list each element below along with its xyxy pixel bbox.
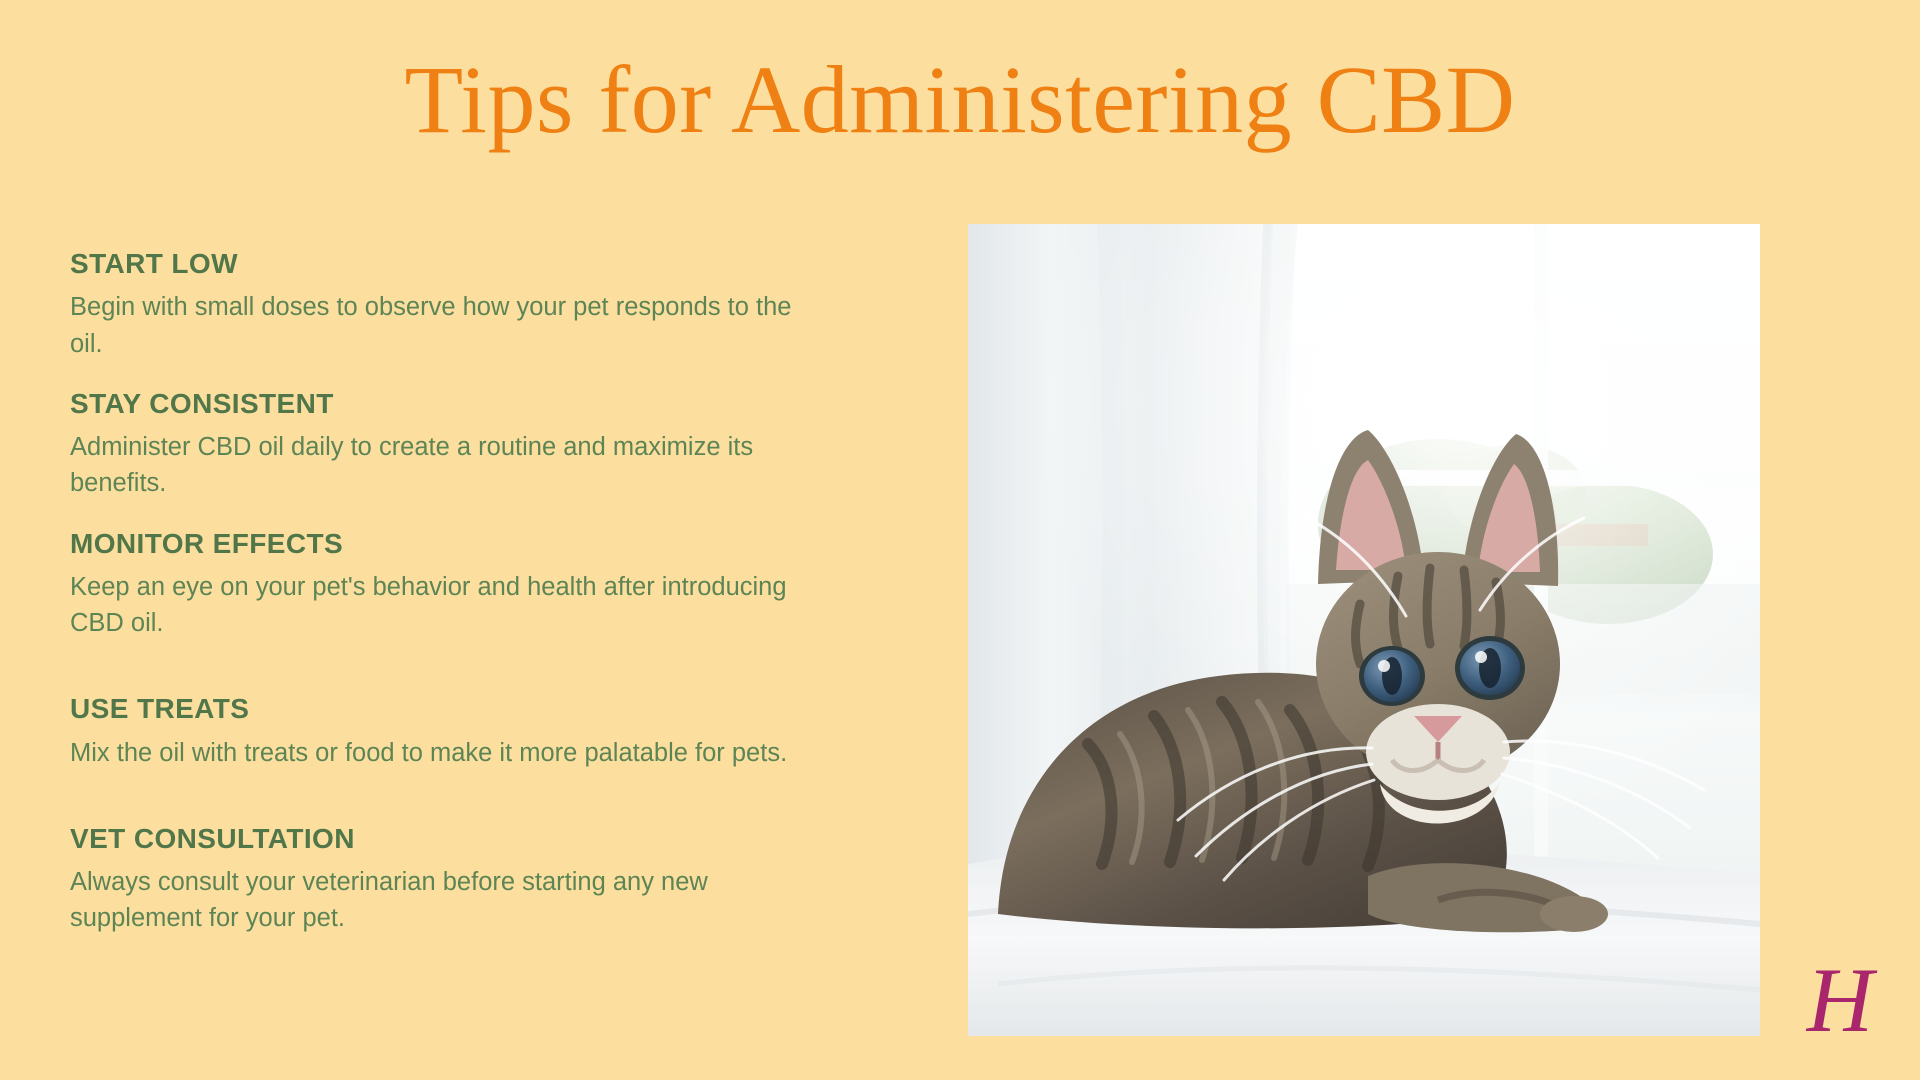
list-item: MONITOR EFFECTS Keep an eye on your pet'… [70, 528, 840, 642]
tip-body: Begin with small doses to observe how yo… [70, 289, 830, 361]
tip-heading: USE TREATS [70, 693, 840, 724]
tip-heading: VET CONSULTATION [70, 823, 840, 854]
tabby-kitten-by-window-photo [968, 224, 1760, 1036]
tip-body: Mix the oil with treats or food to make … [70, 735, 830, 771]
tip-body: Keep an eye on your pet's behavior and h… [70, 569, 830, 641]
list-item: VET CONSULTATION Always consult your vet… [70, 823, 840, 937]
tip-heading: MONITOR EFFECTS [70, 528, 840, 559]
list-item: START LOW Begin with small doses to obse… [70, 248, 840, 362]
tip-body: Always consult your veterinarian before … [70, 864, 830, 936]
tip-body: Administer CBD oil daily to create a rou… [70, 429, 830, 501]
tips-list: START LOW Begin with small doses to obse… [70, 248, 840, 963]
list-item: STAY CONSISTENT Administer CBD oil daily… [70, 388, 840, 502]
brand-monogram-h-icon: H [1798, 955, 1882, 1047]
brand-monogram-glyph: H [1806, 955, 1878, 1047]
list-item: USE TREATS Mix the oil with treats or fo… [70, 693, 840, 771]
tip-heading: START LOW [70, 248, 840, 279]
slide-canvas: Tips for Administering CBD START LOW Beg… [0, 0, 1920, 1080]
page-title: Tips for Administering CBD [0, 48, 1920, 152]
tip-heading: STAY CONSISTENT [70, 388, 840, 419]
